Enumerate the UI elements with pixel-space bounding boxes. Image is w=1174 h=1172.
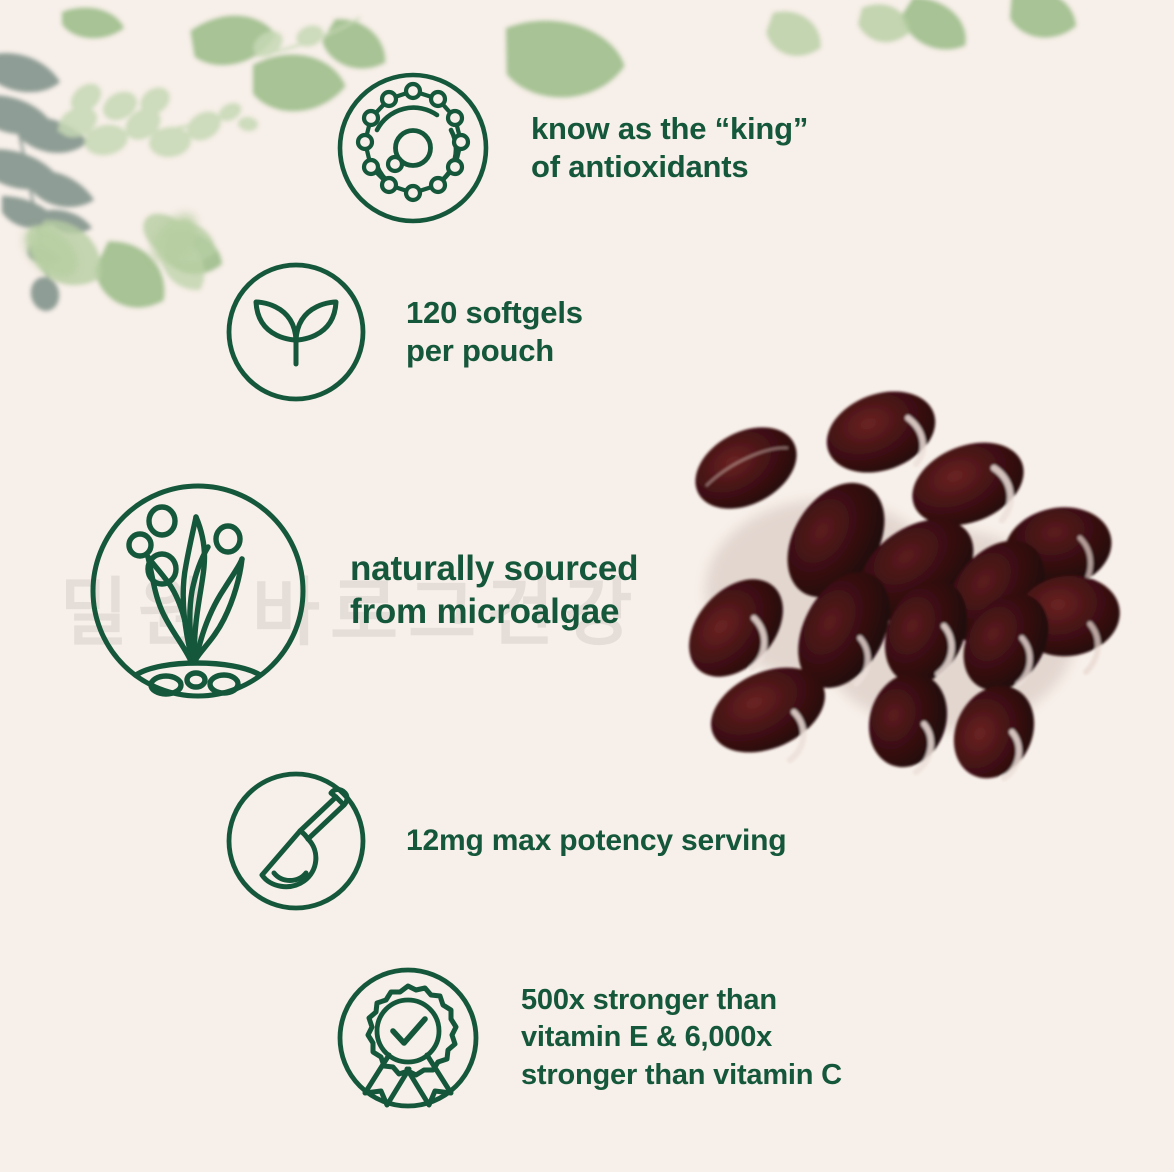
feature-row-antioxidant: know as the “king” of antioxidants [333, 68, 808, 228]
feature-label-softgels: 120 softgels per pouch [406, 294, 583, 370]
award-ribbon-icon [333, 963, 483, 1113]
product-feature-poster: 밀원 바로그건강 [0, 0, 1174, 1172]
feature-label-microalgae: naturally sourced from microalgae [350, 548, 638, 633]
feature-row-softgels: 120 softgels per pouch [222, 258, 583, 406]
spoon-icon [222, 767, 370, 915]
feature-label-strength: 500x stronger than vitamin E & 6,000x st… [521, 982, 842, 1093]
feature-label-antioxidant: know as the “king” of antioxidants [531, 110, 808, 186]
softgels-svg [676, 380, 1136, 800]
astaxanthin-softgels-photo [676, 380, 1136, 800]
feature-row-potency: 12mg max potency serving [222, 767, 786, 915]
feature-row-microalgae: naturally sourced from microalgae [84, 477, 638, 705]
antioxidant-molecule-icon [333, 68, 493, 228]
feature-label-potency: 12mg max potency serving [406, 823, 786, 860]
sprout-leaf-icon [222, 258, 370, 406]
feature-row-strength: 500x stronger than vitamin E & 6,000x st… [333, 963, 842, 1113]
seaweed-microalgae-icon [84, 477, 312, 705]
